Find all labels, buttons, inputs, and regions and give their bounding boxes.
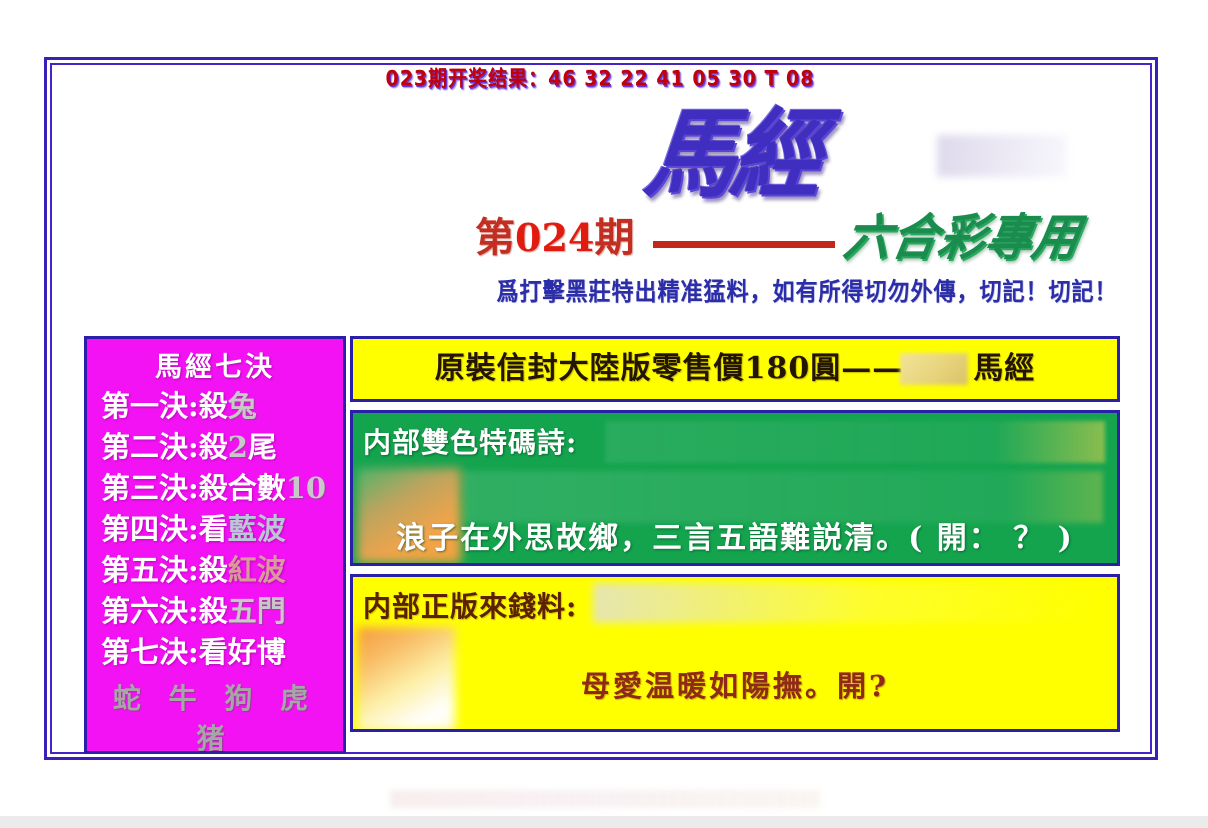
yellow-body-line: 母愛温暖如陽撫。開? bbox=[353, 663, 1117, 705]
notice-line: 爲打擊黑莊特出精准猛料，如有所得切勿外傳，切記！切記！ bbox=[467, 274, 1147, 306]
side-row-5-value: 紅波 bbox=[228, 553, 286, 587]
issue-suffix: 期 bbox=[594, 214, 634, 261]
side-row-1: 第一決:殺兔 bbox=[87, 386, 343, 427]
green-poem-text: 浪子在外思故鄉，三言五語難説清。( 開： ？ ) bbox=[396, 521, 1074, 556]
yellow-redaction-top bbox=[593, 583, 1098, 623]
price-banner-panel: 原裝信封大陸版零售價180圓——馬經 bbox=[350, 336, 1120, 402]
green-poem-line: 浪子在外思故鄉，三言五語難説清。( 開： ？ ) bbox=[353, 513, 1117, 557]
issue-number: 024 bbox=[515, 215, 594, 260]
side-row-3: 第三決:殺合數10 bbox=[87, 468, 343, 509]
side-row-3-value: 10 bbox=[286, 471, 326, 505]
side-row-1-value: 兔 bbox=[228, 389, 257, 423]
side-row-6-value: 五門 bbox=[228, 594, 286, 628]
price-banner-suffix: 馬經 bbox=[973, 351, 1035, 386]
masthead: 馬經 第024期 六合彩專用 爲打擊黑莊特出精准猛料，如有所得切勿外傳，切記！切… bbox=[437, 97, 1147, 332]
side-panel-seven-tips: 馬經七決 第一決:殺兔 第二決:殺2尾 第三決:殺合數10 第四決:看藍波 第五… bbox=[84, 336, 346, 754]
content-area: 馬經七決 第一決:殺兔 第二決:殺2尾 第三決:殺合數10 第四決:看藍波 第五… bbox=[84, 336, 1120, 754]
side-row-7-label: 第七決:看好博 bbox=[101, 635, 286, 669]
notice-text: 爲打擊黑莊特出精准猛料，如有所得切勿外傳，切記！切記！ bbox=[496, 272, 1117, 307]
side-zodiac-row: 蛇 牛 狗 虎 猪 bbox=[87, 677, 343, 754]
poster-root: 023期开奖结果：46 32 22 41 05 30 T 08 馬經 第024期… bbox=[0, 0, 1208, 828]
brand-logo: 馬經 bbox=[652, 99, 952, 209]
green-panel-label: 内部雙色特碼詩: bbox=[363, 421, 577, 461]
draw-results-text: 023期开奖结果：46 32 22 41 05 30 T 08 bbox=[385, 61, 814, 97]
side-row-1-label: 第一決:殺 bbox=[101, 389, 228, 423]
side-row-2-value: 2 bbox=[228, 430, 248, 464]
side-panel-list: 第一決:殺兔 第二決:殺2尾 第三決:殺合數10 第四決:看藍波 第五決:殺紅波… bbox=[87, 386, 343, 673]
green-poem-panel: 内部雙色特碼詩: 浪子在外思故鄉，三言五語難説清。( 開： ？ ) bbox=[350, 410, 1120, 566]
issue-tagline: 六合彩專用 bbox=[839, 204, 1086, 271]
side-row-5-label: 第五決:殺 bbox=[101, 553, 228, 587]
logo-blur-smudge bbox=[937, 135, 1067, 177]
draw-results-strip: 023期开奖结果：46 32 22 41 05 30 T 08 bbox=[50, 63, 1150, 95]
issue-row: 第024期 六合彩專用 bbox=[475, 209, 1147, 271]
side-row-2-label: 第二決:殺 bbox=[101, 430, 228, 464]
issue-label: 第024期 bbox=[475, 209, 634, 267]
side-row-2: 第二決:殺2尾 bbox=[87, 427, 343, 468]
issue-prefix: 第 bbox=[475, 214, 515, 261]
yellow-body-text: 母愛温暖如陽撫。 bbox=[581, 669, 837, 703]
yellow-tips-panel: 内部正版來錢料: 母愛温暖如陽撫。開? bbox=[350, 574, 1120, 732]
brand-logo-text: 馬經 bbox=[640, 99, 967, 211]
footer-smudge bbox=[390, 790, 820, 808]
side-row-5: 第五決:殺紅波 bbox=[87, 550, 343, 591]
side-panel-title: 馬經七決 bbox=[87, 345, 343, 384]
price-banner-inner: 原裝信封大陸版零售價180圓——馬經 bbox=[353, 339, 1117, 399]
yellow-open-mark: 開? bbox=[837, 669, 889, 703]
side-row-4-label: 第四決:看 bbox=[101, 512, 228, 546]
price-banner-redaction bbox=[900, 353, 968, 385]
side-row-3-label: 第三決:殺合數 bbox=[101, 471, 286, 505]
side-row-7: 第七決:看好博 bbox=[87, 632, 343, 673]
price-banner-text: 原裝信封大陸版零售價180圓—— bbox=[435, 351, 904, 386]
side-row-4: 第四決:看藍波 bbox=[87, 509, 343, 550]
side-row-2-suffix: 尾 bbox=[248, 430, 277, 464]
yellow-panel-label: 内部正版來錢料: bbox=[363, 585, 577, 625]
side-row-6-label: 第六決:殺 bbox=[101, 594, 228, 628]
side-row-4-value: 藍波 bbox=[228, 512, 286, 546]
green-redaction-top bbox=[605, 421, 1105, 463]
side-row-6: 第六決:殺五門 bbox=[87, 591, 343, 632]
issue-divider-rule bbox=[653, 241, 835, 248]
page-bottom-bar bbox=[0, 816, 1208, 828]
main-stack: 原裝信封大陸版零售價180圓——馬經 内部雙色特碼詩: 浪子在外思故鄉，三言五語… bbox=[350, 336, 1120, 754]
